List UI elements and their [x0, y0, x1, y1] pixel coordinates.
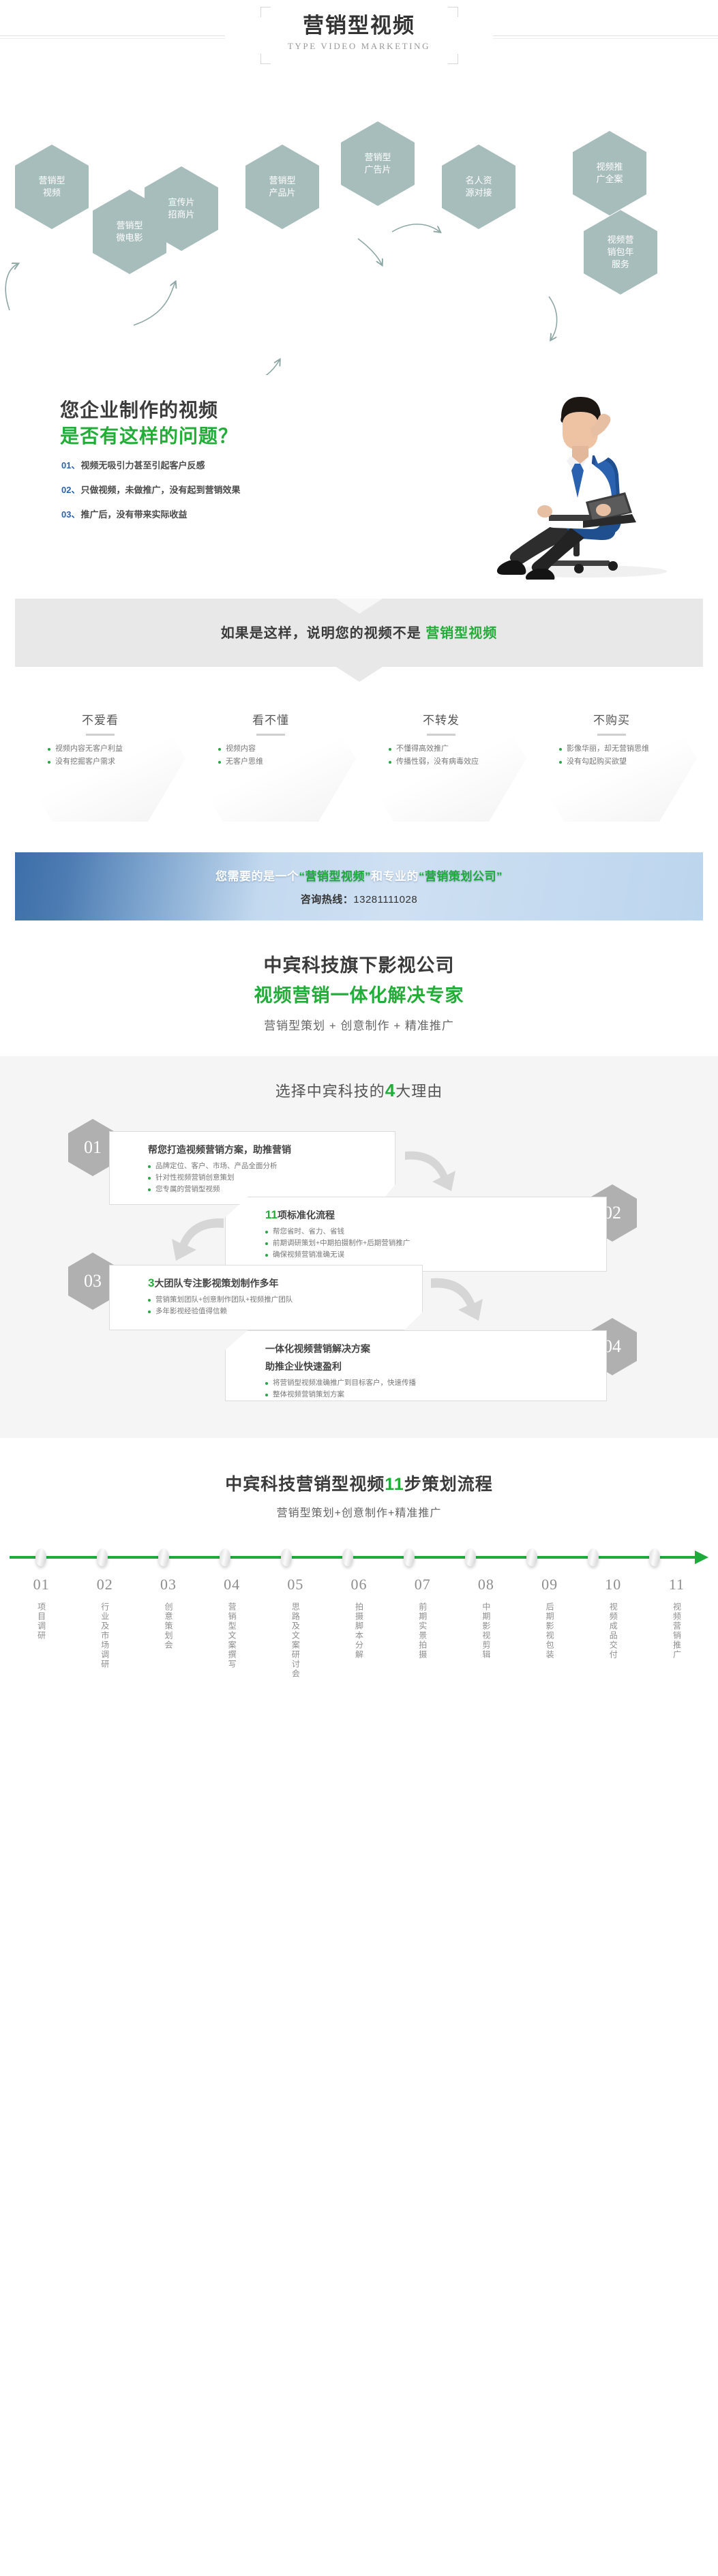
step-label: 后期影视包装 [543, 1602, 556, 1660]
problem-item-number: 03、 [61, 509, 80, 520]
blue-banner-quote1: “营销型视频” [299, 870, 372, 883]
reason-card-01-heading: 帮您打造视频营销方案，助推营销 [148, 1143, 395, 1156]
step-label: 行业及市场调研 [98, 1602, 112, 1669]
timeline-dot-08 [465, 1548, 476, 1566]
bullet: 多年影视经验值得信赖 [148, 1306, 422, 1317]
reason-number-03: 03 [84, 1271, 102, 1291]
problem-item: 02、只做视频，未做推广，没有起到营销效果 [61, 483, 240, 496]
step-number: 02 [73, 1576, 136, 1593]
gray-conclusion-banner: 如果是这样，说明您的视频不是 营销型视频 [15, 599, 703, 667]
company-line2: 视频营销一体化解决专家 [0, 980, 718, 1007]
step-label: 拍摄脚本分解 [353, 1602, 366, 1660]
blue-banner-part1: 您需要的是一个 [215, 870, 299, 883]
problem-hex-title: 看不懂 [218, 710, 323, 728]
service-hex-4-line1: 名人资 [465, 175, 492, 187]
problem-item-text: 推广后，没有带来实际收益 [80, 509, 187, 520]
step-number: 11 [645, 1576, 708, 1593]
timeline-steps: 01 项目调研 02 行业及市场调研 03 创意策划会 04 营销型文案撰写 0… [10, 1576, 708, 1682]
step-number: 04 [200, 1576, 264, 1593]
gray-banner-text: 如果是这样，说明您的视频不是 营销型视频 [15, 622, 703, 642]
service-hex-5-line2: 广全案 [596, 173, 623, 185]
problem-list: 01、视频无吸引力甚至引起客户反感 02、只做视频，未做推广，没有起到营销效果 … [61, 458, 240, 532]
blue-cta-banner: 您需要的是一个“营销型视频”和专业的“营销策划公司” 咨询热线：13281111… [15, 852, 703, 920]
reason-card-04-heading2: 助推企业快速盈利 [265, 1360, 606, 1373]
step-label: 中期影视剪辑 [479, 1602, 493, 1660]
problem-item-number: 01、 [61, 460, 80, 470]
header-bracket-box: 营销型视频 TYPE VIDEO MARKETING [260, 7, 458, 64]
timeline-step-10: 10 视频成品交付 [582, 1576, 645, 1682]
bullet: 无客户思维 [218, 756, 323, 768]
timeline-dot-06 [342, 1548, 353, 1566]
reason-card-03-bullets: 营销策划团队+创意制作团队+视频推广团队 多年影视经验值得信赖 [148, 1294, 422, 1317]
title-divider [256, 734, 285, 736]
service-hex-4[interactable]: 名人资源对接 [442, 145, 515, 229]
blue-banner-part2: 和专业的 [371, 870, 419, 883]
bullet: 品牌定位、客户、市场、产品全面分析 [148, 1160, 395, 1172]
page-header: 营销型视频 TYPE VIDEO MARKETING [0, 0, 718, 102]
timeline-dot-03 [158, 1548, 169, 1566]
marketing-video-landing-page: 营销型视频 TYPE VIDEO MARKETING 营销型视频 [0, 0, 718, 1709]
problem-item: 01、视频无吸引力甚至引起客户反感 [61, 458, 240, 471]
timeline-dot-07 [404, 1548, 415, 1566]
problem-hex-title: 不爱看 [48, 710, 153, 728]
service-hex-7[interactable]: 视频营销包年服务 [584, 210, 657, 295]
company-line3: 营销型策划 + 创意制作 + 精准推广 [0, 1016, 718, 1033]
timeline-dot-10 [588, 1548, 599, 1566]
reason-arrow-01-to-02-icon [402, 1146, 470, 1195]
header-rule-right [493, 35, 718, 36]
problem-item-text: 只做视频，未做推广，没有起到营销效果 [80, 485, 240, 495]
bullet: 帮您省时、省力、省钱 [265, 1226, 606, 1238]
service-hex-2-line1: 营销型 [269, 175, 295, 187]
timeline-step-08: 08 中期影视剪辑 [454, 1576, 518, 1682]
problem-title-line2: 是否有这样的问题？ [60, 421, 238, 449]
title-divider [427, 734, 455, 736]
bullet: 没有勾起购买欲望 [559, 756, 664, 768]
businessman-photo [452, 375, 704, 580]
service-hex-3-line2: 广告片 [364, 164, 391, 176]
service-hex-7-line2: 销包年 [607, 246, 633, 258]
reason-number-01: 01 [84, 1137, 102, 1158]
company-line1: 中宾科技旗下影视公司 [0, 950, 718, 977]
heading-text: 项标准化流程 [278, 1210, 335, 1220]
reasons-title-prefix: 选择中宾科技的 [275, 1083, 385, 1100]
bullet: 前期调研策划+中期拍摄制作+后期营销推广 [265, 1238, 606, 1249]
corner-bottom-left-icon [260, 54, 271, 64]
problem-section: 您企业制作的视频 是否有这样的问题？ 01、视频无吸引力甚至引起客户反感 02、… [0, 375, 718, 586]
reason-card-03[interactable]: 3大团队专注影视策划制作多年 营销策划团队+创意制作团队+视频推广团队 多年影视… [109, 1265, 423, 1330]
step-label: 创意策划会 [162, 1602, 175, 1650]
timeline-title-pre: 中宾科技营销型视频 [225, 1475, 385, 1494]
blue-banner-headline: 您需要的是一个“营销型视频”和专业的“营销策划公司” [215, 867, 503, 884]
step-number: 03 [136, 1576, 200, 1593]
problem-hex-bullets: 影像华丽，却无营销思维 没有勾起购买欲望 [559, 743, 664, 768]
reason-card-02-bullets: 帮您省时、省力、省钱 前期调研策划+中期拍摄制作+后期营销推广 确保视频营销准确… [265, 1226, 606, 1261]
bullet: 整体视频营销策划方案 [265, 1389, 606, 1401]
bullet: 确保视频营销准确无误 [265, 1249, 606, 1261]
problem-item: 03、推广后，没有带来实际收益 [61, 507, 240, 520]
header-rule-left [0, 35, 225, 36]
timeline-step-09: 09 后期影视包装 [518, 1576, 582, 1682]
step-number: 07 [391, 1576, 454, 1593]
service-hex-1-line2: 招商片 [168, 209, 194, 221]
hotline-label: 咨询热线： [301, 894, 354, 905]
step-label: 项目调研 [35, 1602, 48, 1641]
step-number: 08 [454, 1576, 518, 1593]
problem-hex-bullets: 不懂得高效推广 传播性弱，没有病毒效应 [389, 743, 494, 768]
service-hex-3-line1: 营销型 [364, 151, 391, 164]
step-label: 视频成品交付 [606, 1602, 620, 1660]
reasons-section: 选择中宾科技的4大理由 01 帮您打造视频营销方案，助推营销 品牌定位、客户、市… [0, 1056, 718, 1438]
problem-item-number: 02、 [61, 485, 80, 495]
step-number: 01 [10, 1576, 73, 1593]
gray-banner-highlight: 营销型视频 [425, 626, 497, 641]
timeline-step-04: 04 营销型文案撰写 [200, 1576, 264, 1682]
timeline-arrowhead-icon [695, 1551, 708, 1564]
bullet: 视频内容无客户利益 [48, 743, 153, 755]
service-hex-6-line1: 营销型 [116, 220, 143, 232]
service-hex-0-line1: 营销型 [38, 175, 65, 187]
step-label: 前期实景拍摄 [416, 1602, 430, 1660]
service-hex-5[interactable]: 视频推广全案 [573, 131, 646, 215]
blue-banner-quote2: “营销策划公司” [419, 870, 503, 883]
header-rule-left-2 [0, 38, 225, 39]
company-section: 中宾科技旗下影视公司 视频营销一体化解决专家 营销型策划 + 创意制作 + 精准… [0, 920, 718, 1033]
timeline-step-05: 05 思路及文案研讨会 [264, 1576, 327, 1682]
timeline-dot-05 [281, 1548, 292, 1566]
service-hex-2[interactable]: 营销型产品片 [245, 145, 319, 229]
reason-card-02-heading: 11项标准化流程 [265, 1208, 606, 1222]
bullet: 营销策划团队+创意制作团队+视频推广团队 [148, 1294, 422, 1306]
banner-notch-bottom-icon [336, 667, 383, 682]
timeline-step-02: 02 行业及市场调研 [73, 1576, 136, 1682]
banner-notch-top-icon [336, 599, 383, 614]
problem-item-text: 视频无吸引力甚至引起客户反感 [80, 460, 205, 470]
bullet: 针对性视频营销创意策划 [148, 1172, 395, 1184]
problem-hex-title: 不转发 [389, 710, 494, 728]
heading-text: 帮您打造视频营销方案，助推营销 [148, 1144, 291, 1155]
bullet: 不懂得高效推广 [389, 743, 494, 755]
timeline-step-03: 03 创意策划会 [136, 1576, 200, 1682]
timeline-step-11: 11 视频营销推广 [645, 1576, 708, 1682]
service-hex-4-line2: 源对接 [465, 187, 492, 199]
reason-card-01[interactable]: 帮您打造视频营销方案，助推营销 品牌定位、客户、市场、产品全面分析 针对性视频营… [109, 1131, 395, 1205]
timeline-title: 中宾科技营销型视频11步策划流程 [0, 1471, 718, 1495]
problem-hex-bullets: 视频内容 无客户思维 [218, 743, 323, 768]
reasons-title: 选择中宾科技的4大理由 [0, 1079, 718, 1101]
bullet: 影像华丽，却无营销思维 [559, 743, 664, 755]
service-hex-6-line2: 微电影 [116, 232, 143, 244]
timeline-dot-02 [97, 1548, 108, 1566]
timeline-dot-04 [220, 1548, 230, 1566]
header-rule-right-2 [493, 38, 718, 39]
reason-card-03-heading: 3大团队专注影视策划制作多年 [148, 1276, 422, 1290]
problem-hex-card-3[interactable]: 不购买 影像华丽，却无营销思维 没有勾起购买欲望 [526, 695, 697, 822]
bullet: 视频内容 [218, 743, 323, 755]
reason-card-04-heading: 一体化视频营销解决方案 [265, 1342, 606, 1356]
service-hexagon-grid: 营销型视频 营销型微电影 宣传片招商片 营销型产品片 营销型广告片 名人资源对接… [0, 102, 718, 375]
service-hex-7-line1: 视频营 [607, 234, 633, 246]
problem-hex-row: 不爱看 视频内容无客户利益 没有挖掘客户需求 看不懂 视频内容 无客户思维 不转… [0, 695, 718, 818]
problem-hex-card-0[interactable]: 不爱看 视频内容无客户利益 没有挖掘客户需求 [15, 695, 185, 822]
reasons-title-suffix: 大理由 [395, 1083, 443, 1100]
reasons-title-number: 4 [385, 1080, 395, 1100]
heading-number: 11 [265, 1208, 278, 1221]
step-number: 06 [327, 1576, 391, 1593]
bullet: 将营销型视频准确推广到目标客户，快速传播 [265, 1377, 606, 1389]
reason-card-04-bullets: 将营销型视频准确推广到目标客户，快速传播 整体视频营销策划方案 [265, 1377, 606, 1401]
reason-card-01-bullets: 品牌定位、客户、市场、产品全面分析 针对性视频营销创意策划 您专属的营销型视频 [148, 1160, 395, 1195]
timeline-dot-09 [526, 1548, 537, 1566]
step-number: 05 [264, 1576, 327, 1593]
timeline-section: 中宾科技营销型视频11步策划流程 营销型策划+创意制作+精准推广 01 项目调研 [0, 1438, 718, 1709]
timeline-step-06: 06 拍摄脚本分解 [327, 1576, 391, 1682]
timeline-title-post: 步策划流程 [404, 1475, 493, 1494]
problem-hex-card-1[interactable]: 看不懂 视频内容 无客户思维 [185, 695, 356, 822]
timeline-dot-01 [35, 1548, 46, 1566]
heading-text: 大团队专注影视策划制作多年 [154, 1278, 278, 1289]
title-divider [597, 734, 626, 736]
problem-hex-bullets: 视频内容无客户利益 没有挖掘客户需求 [48, 743, 153, 768]
service-hex-1-line1: 宣传片 [168, 196, 194, 209]
step-label: 营销型文案撰写 [225, 1602, 239, 1669]
timeline-track [10, 1548, 708, 1566]
step-label: 思路及文案研讨会 [288, 1602, 302, 1679]
step-number: 09 [518, 1576, 582, 1593]
reason-card-04[interactable]: 一体化视频营销解决方案 助推企业快速盈利 将营销型视频准确推广到目标客户，快速传… [225, 1330, 607, 1401]
service-hex-2-line2: 产品片 [269, 187, 295, 199]
reason-arrow-03-to-04-icon [428, 1273, 499, 1326]
step-number: 10 [582, 1576, 645, 1593]
gray-banner-prefix: 如果是这样，说明您的视频不是 [221, 626, 426, 641]
service-hex-7-line3: 服务 [607, 258, 633, 271]
heading-text: 一体化视频营销解决方案 [265, 1343, 370, 1354]
page-title: 营销型视频 [260, 7, 458, 40]
reason-card-02[interactable]: 11项标准化流程 帮您省时、省力、省钱 前期调研策划+中期拍摄制作+后期营销推广… [225, 1197, 607, 1272]
heading-text-2: 助推企业快速盈利 [265, 1361, 342, 1372]
bullet: 您专属的营销型视频 [148, 1184, 395, 1195]
timeline-step-01: 01 项目调研 [10, 1576, 73, 1682]
corner-top-left-icon [260, 7, 271, 17]
timeline-step-07: 07 前期实景拍摄 [391, 1576, 454, 1682]
bullet: 没有挖掘客户需求 [48, 756, 153, 768]
corner-bottom-right-icon [448, 54, 458, 64]
bullet: 传播性弱，没有病毒效应 [389, 756, 494, 768]
problem-title-line1: 您企业制作的视频 [60, 395, 218, 423]
timeline-subtitle: 营销型策划+创意制作+精准推广 [0, 1503, 718, 1520]
timeline-dot-11 [649, 1548, 660, 1566]
title-divider [86, 734, 115, 736]
timeline-title-number: 11 [385, 1475, 404, 1494]
service-hex-0[interactable]: 营销型视频 [15, 145, 89, 229]
page-subtitle: TYPE VIDEO MARKETING [260, 41, 458, 52]
hotline-row: 咨询热线：13281111028 [301, 892, 417, 906]
service-hex-0-line2: 视频 [38, 187, 65, 199]
service-hex-5-line1: 视频推 [596, 161, 623, 173]
problem-hex-card-2[interactable]: 不转发 不懂得高效推广 传播性弱，没有病毒效应 [356, 695, 526, 822]
hotline-number[interactable]: 13281111028 [353, 894, 417, 905]
problem-hex-title: 不购买 [559, 710, 664, 728]
reason-arrow-02-to-03-icon [155, 1214, 226, 1266]
step-label: 视频营销推广 [670, 1602, 683, 1660]
corner-top-right-icon [448, 7, 458, 17]
reason-card-list: 01 帮您打造视频营销方案，助推营销 品牌定位、客户、市场、产品全面分析 针对性… [0, 1113, 718, 1407]
service-hex-3[interactable]: 营销型广告片 [341, 121, 415, 206]
